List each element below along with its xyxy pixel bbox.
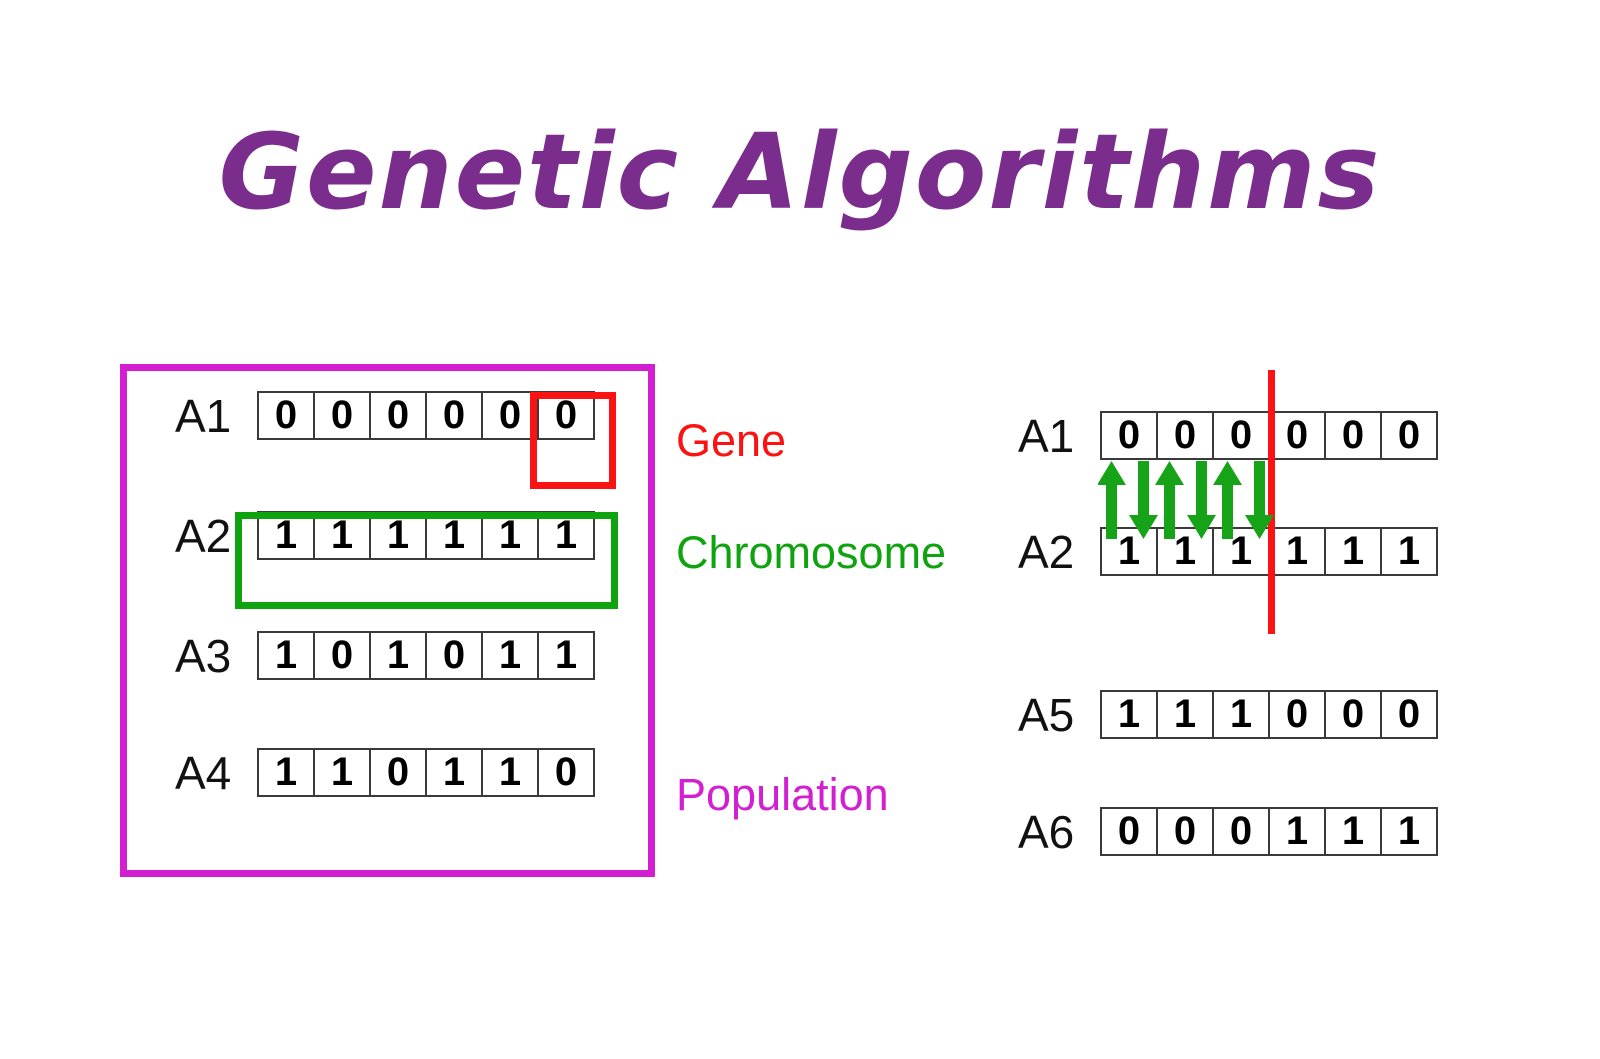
gene-cell: 0 — [257, 391, 315, 440]
gene-cell: 0 — [1324, 411, 1382, 460]
gene-cell: 1 — [1268, 807, 1326, 856]
table-row: A5 1 1 1 0 0 0 — [1018, 690, 1438, 739]
legend-label-gene: Gene — [676, 418, 786, 463]
gene-cell: 1 — [1212, 690, 1270, 739]
table-row: A6 0 0 0 1 1 1 — [1018, 807, 1438, 856]
gene-cell: 1 — [1380, 527, 1438, 576]
gene-cell: 1 — [1156, 690, 1214, 739]
row-label-a3: A3 — [175, 633, 253, 679]
gene-cell: 0 — [1100, 807, 1158, 856]
row-label-a1: A1 — [175, 393, 253, 439]
gene-cell: 0 — [1380, 411, 1438, 460]
table-row: A4 1 1 0 1 1 0 — [175, 748, 595, 797]
gene-cell: 0 — [1212, 411, 1270, 460]
gene-cell: 0 — [1212, 807, 1270, 856]
gene-highlight-box — [530, 392, 616, 489]
gene-cell: 0 — [1156, 411, 1214, 460]
gene-cell: 1 — [1100, 690, 1158, 739]
row-label-a2: A2 — [1018, 529, 1096, 575]
gene-strip-a4: 1 1 0 1 1 0 — [257, 748, 595, 797]
gene-cell: 0 — [369, 391, 427, 440]
row-label-a4: A4 — [175, 750, 253, 796]
gene-cell: 1 — [481, 631, 539, 680]
gene-cell: 0 — [369, 748, 427, 797]
arrow-up-icon — [1213, 461, 1242, 539]
page-title: Genetic Algorithms — [0, 118, 1600, 227]
gene-cell: 0 — [313, 631, 371, 680]
table-row: A1 0 0 0 0 0 0 — [1018, 411, 1438, 460]
arrow-up-icon — [1098, 461, 1126, 539]
legend-label-chromosome: Chromosome — [676, 530, 946, 575]
gene-cell: 0 — [1100, 411, 1158, 460]
gene-strip-a3: 1 0 1 0 1 1 — [257, 631, 595, 680]
gene-cell: 1 — [257, 748, 315, 797]
gene-cell: 0 — [425, 391, 483, 440]
gene-cell: 0 — [1380, 690, 1438, 739]
gene-cell: 0 — [1268, 690, 1326, 739]
arrow-up-icon — [1155, 461, 1184, 539]
gene-cell: 1 — [425, 748, 483, 797]
gene-strip-a6: 0 0 0 1 1 1 — [1100, 807, 1438, 856]
gene-cell: 1 — [369, 631, 427, 680]
row-label-a1: A1 — [1018, 413, 1096, 459]
arrow-down-icon — [1187, 461, 1216, 539]
gene-cell: 1 — [481, 748, 539, 797]
legend-label-population: Population — [676, 772, 889, 817]
row-label-a6: A6 — [1018, 809, 1096, 855]
gene-cell: 0 — [537, 748, 595, 797]
gene-cell: 1 — [257, 631, 315, 680]
gene-cell: 0 — [1156, 807, 1214, 856]
gene-cell: 1 — [1324, 527, 1382, 576]
gene-cell: 0 — [1268, 411, 1326, 460]
gene-cell: 1 — [1324, 807, 1382, 856]
row-label-a5: A5 — [1018, 692, 1096, 738]
gene-strip-a5: 1 1 1 0 0 0 — [1100, 690, 1438, 739]
gene-cell: 0 — [313, 391, 371, 440]
gene-cell: 0 — [425, 631, 483, 680]
gene-cell: 0 — [1324, 690, 1382, 739]
table-row: A3 1 0 1 0 1 1 — [175, 631, 595, 680]
arrow-down-icon — [1129, 461, 1158, 539]
gene-cell: 1 — [313, 748, 371, 797]
chromosome-highlight-box — [235, 512, 618, 609]
gene-swap-arrows — [1098, 461, 1278, 539]
arrow-down-icon — [1245, 461, 1274, 539]
gene-cell: 1 — [1380, 807, 1438, 856]
gene-cell: 1 — [537, 631, 595, 680]
